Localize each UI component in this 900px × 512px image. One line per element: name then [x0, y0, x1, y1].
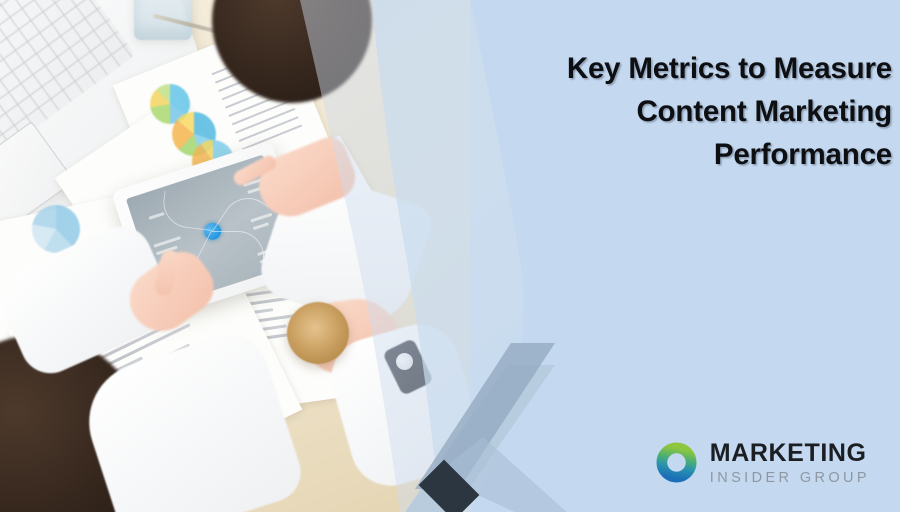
hero-photo — [0, 0, 530, 512]
banner: Key Metrics to Measure Content Marketing… — [0, 0, 900, 512]
title-line-1: Key Metrics to Measure — [472, 47, 892, 90]
brand-logo[interactable]: MARKETING INSIDER GROUP — [656, 441, 870, 486]
logo-name: MARKETING — [710, 441, 870, 466]
coffee-cup — [287, 302, 349, 364]
title-line-3: Performance — [472, 133, 892, 176]
ring-logo-icon — [656, 442, 697, 483]
logo-tagline: INSIDER GROUP — [710, 471, 870, 486]
title-line-2: Content Marketing — [472, 90, 892, 133]
page-title: Key Metrics to Measure Content Marketing… — [472, 47, 892, 176]
